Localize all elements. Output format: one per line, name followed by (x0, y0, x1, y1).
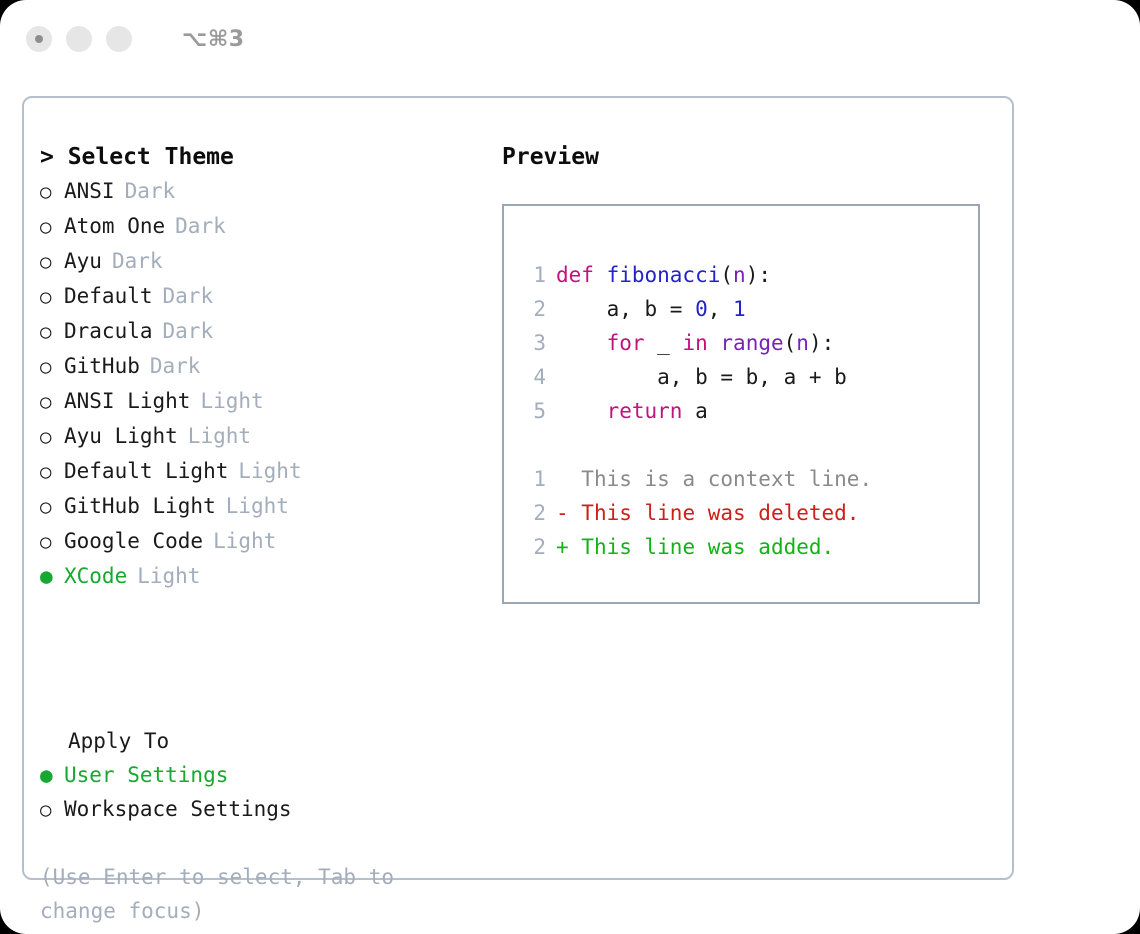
active-indicator-dot (35, 35, 43, 43)
diff-line-content: This line was added. (569, 530, 835, 564)
theme-list-item[interactable]: ○GitHubDark (40, 349, 480, 384)
code-diff-spacer (520, 428, 978, 462)
radio-unselected-icon: ○ (40, 175, 64, 209)
radio-unselected-icon: ○ (40, 420, 64, 454)
theme-category-label: Light (137, 559, 200, 593)
theme-list-item[interactable]: ○DefaultDark (40, 279, 480, 314)
code-line-number: 5 (520, 394, 546, 428)
code-token: a, b = (556, 297, 695, 321)
theme-picker-column: > Select Theme ○ANSIDark○Atom OneDark○Ay… (40, 140, 480, 593)
code-line: 2 a, b = 0, 1 (520, 292, 978, 326)
theme-category-label: Dark (112, 244, 163, 278)
code-sample-block: 1def fibonacci(n):2 a, b = 0, 13 for _ i… (520, 258, 978, 428)
preview-column: Preview 1def fibonacci(n):2 a, b = 0, 13… (502, 140, 1002, 604)
theme-list-item[interactable]: ○DraculaDark (40, 314, 480, 349)
theme-name-label: Default (64, 279, 153, 313)
diff-sign (556, 462, 569, 496)
radio-unselected-icon: ○ (40, 455, 64, 489)
theme-name-label: Default Light (64, 454, 228, 488)
code-token: a (682, 399, 707, 423)
theme-category-label: Dark (163, 279, 214, 313)
theme-list-item[interactable]: ●XCodeLight (40, 559, 480, 593)
radio-unselected-icon: ○ (40, 793, 64, 827)
code-line: 3 for _ in range(n): (520, 326, 978, 360)
diff-line: 2+ This line was added. (520, 530, 978, 564)
app-window: ⌥⌘3 > Select Theme ○ANSIDark○Atom OneDar… (0, 0, 1140, 934)
keyboard-hint-text: (Use Enter to select, Tab to change focu… (40, 860, 450, 928)
theme-list-item[interactable]: ○Google CodeLight (40, 524, 480, 559)
theme-category-label: Dark (150, 349, 201, 383)
radio-unselected-icon: ○ (40, 490, 64, 524)
code-token (708, 331, 721, 355)
theme-list: ○ANSIDark○Atom OneDark○AyuDark○DefaultDa… (40, 174, 480, 593)
code-token: ): (746, 263, 771, 287)
code-line-number: 1 (520, 258, 546, 292)
code-line-number: 3 (520, 326, 546, 360)
code-line: 4 a, b = b, a + b (520, 360, 978, 394)
diff-line-content: This line was deleted. (569, 496, 860, 530)
code-token: a, b = b, a + b (556, 365, 847, 389)
window-titlebar: ⌥⌘3 (0, 0, 1140, 78)
diff-sign: + (556, 530, 569, 564)
theme-list-item[interactable]: ○AyuDark (40, 244, 480, 279)
theme-name-label: XCode (64, 559, 127, 593)
theme-category-label: Light (188, 419, 251, 453)
traffic-light-active-dot[interactable] (26, 26, 52, 52)
code-line: 5 return a (520, 394, 978, 428)
code-line-content: for _ in range(n): (556, 326, 834, 360)
theme-category-label: Dark (175, 209, 226, 243)
radio-selected-icon: ● (40, 758, 64, 792)
code-token: n (796, 331, 809, 355)
code-line-content: a, b = 0, 1 (556, 292, 746, 326)
theme-name-label: Atom One (64, 209, 165, 243)
diff-line: 2- This line was deleted. (520, 496, 978, 530)
theme-list-item[interactable]: ○Ayu LightLight (40, 419, 480, 454)
radio-unselected-icon: ○ (40, 245, 64, 279)
theme-name-label: ANSI (64, 174, 115, 208)
apply-to-option[interactable]: ●User Settings (40, 758, 480, 792)
code-token: _ (645, 331, 683, 355)
code-token (556, 399, 607, 423)
code-line-number: 4 (520, 360, 546, 394)
diff-line-number: 2 (520, 530, 546, 564)
code-token: fibonacci (607, 263, 721, 287)
apply-to-option[interactable]: ○Workspace Settings (40, 792, 480, 827)
preview-header: Preview (502, 140, 1002, 174)
code-line-content: a, b = b, a + b (556, 360, 847, 394)
theme-category-label: Dark (163, 314, 214, 348)
code-line-content: return a (556, 394, 708, 428)
code-token: ): (809, 331, 834, 355)
theme-name-label: Ayu Light (64, 419, 178, 453)
radio-unselected-icon: ○ (40, 315, 64, 349)
panel-inner: > Select Theme ○ANSIDark○Atom OneDark○Ay… (24, 98, 1012, 878)
radio-unselected-icon: ○ (40, 350, 64, 384)
theme-list-item[interactable]: ○Default LightLight (40, 454, 480, 489)
theme-list-item[interactable]: ○ANSIDark (40, 174, 480, 209)
keyboard-shortcut-label: ⌥⌘3 (182, 27, 245, 52)
theme-list-item[interactable]: ○Atom OneDark (40, 209, 480, 244)
code-token: in (682, 331, 707, 355)
code-token: 0 (695, 297, 708, 321)
apply-to-option-label: Workspace Settings (64, 792, 292, 826)
diff-line-number: 1 (520, 462, 546, 496)
main-panel: > Select Theme ○ANSIDark○Atom OneDark○Ay… (22, 96, 1014, 880)
select-theme-header: > Select Theme (40, 140, 480, 174)
radio-unselected-icon: ○ (40, 385, 64, 419)
theme-category-label: Dark (125, 174, 176, 208)
theme-category-label: Light (213, 524, 276, 558)
apply-to-header: Apply To (40, 724, 480, 758)
traffic-light-dot-3[interactable] (106, 26, 132, 52)
code-token: for (607, 331, 645, 355)
theme-list-item[interactable]: ○GitHub LightLight (40, 489, 480, 524)
radio-unselected-icon: ○ (40, 525, 64, 559)
theme-category-label: Light (200, 384, 263, 418)
theme-name-label: Dracula (64, 314, 153, 348)
theme-name-label: ANSI Light (64, 384, 190, 418)
code-token: 1 (733, 297, 746, 321)
radio-unselected-icon: ○ (40, 280, 64, 314)
apply-to-option-label: User Settings (64, 758, 228, 792)
apply-to-section: Apply To ●User Settings○Workspace Settin… (40, 724, 480, 827)
diff-line-content: This is a context line. (569, 462, 872, 496)
code-token: , (708, 297, 733, 321)
traffic-light-dot-2[interactable] (66, 26, 92, 52)
code-token (556, 331, 607, 355)
theme-name-label: Google Code (64, 524, 203, 558)
preview-box: 1def fibonacci(n):2 a, b = 0, 13 for _ i… (502, 204, 980, 604)
diff-line-number: 2 (520, 496, 546, 530)
code-token: n (733, 263, 746, 287)
diff-sign: - (556, 496, 569, 530)
theme-name-label: GitHub (64, 349, 140, 383)
radio-selected-icon: ● (40, 559, 64, 593)
code-token: ( (720, 263, 733, 287)
code-token: ( (784, 331, 797, 355)
theme-list-item[interactable]: ○ANSI LightLight (40, 384, 480, 419)
code-line-number: 2 (520, 292, 546, 326)
diff-sample-block: 1 This is a context line.2- This line wa… (520, 462, 978, 564)
theme-name-label: Ayu (64, 244, 102, 278)
code-token: range (720, 331, 783, 355)
radio-unselected-icon: ○ (40, 210, 64, 244)
code-line: 1def fibonacci(n): (520, 258, 978, 292)
theme-category-label: Light (226, 489, 289, 523)
code-token: return (607, 399, 683, 423)
code-token: def (556, 263, 607, 287)
theme-name-label: GitHub Light (64, 489, 216, 523)
code-line-content: def fibonacci(n): (556, 258, 771, 292)
apply-to-list: ●User Settings○Workspace Settings (40, 758, 480, 827)
theme-category-label: Light (238, 454, 301, 488)
diff-line: 1 This is a context line. (520, 462, 978, 496)
